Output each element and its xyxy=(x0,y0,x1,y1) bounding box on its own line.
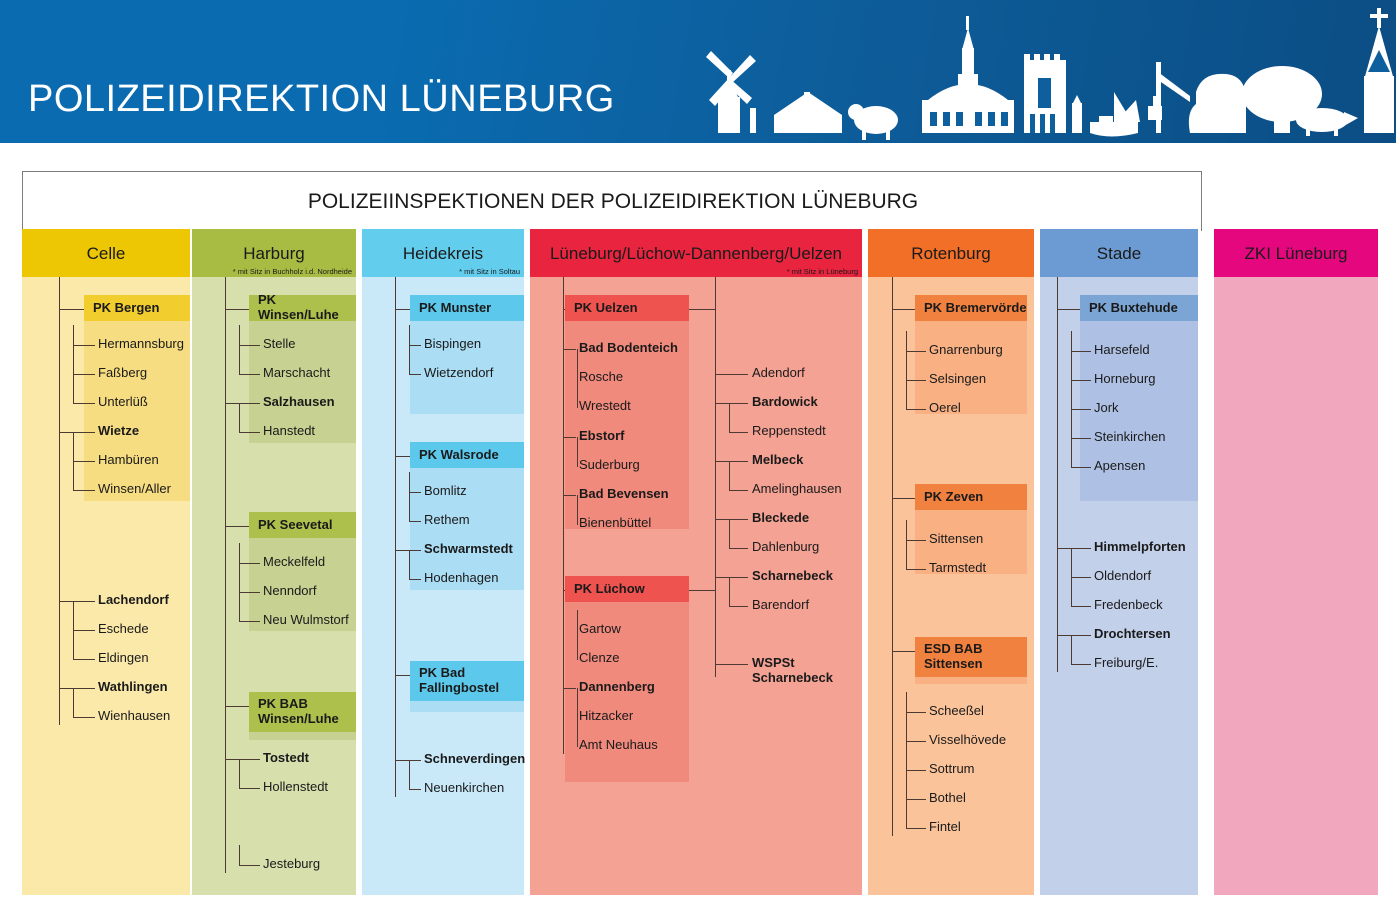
station-node[interactable]: Salzhausen xyxy=(263,395,335,410)
sub-node[interactable]: Hodenhagen xyxy=(424,571,498,586)
station-node[interactable]: Himmelpforten xyxy=(1094,540,1186,555)
node-connector xyxy=(906,741,926,742)
pk-connector xyxy=(563,590,565,591)
station-node[interactable]: Bad Bodenteich xyxy=(579,341,678,356)
node-tick xyxy=(892,828,893,829)
node-branch xyxy=(577,495,578,525)
sub-node[interactable]: Wrestedt xyxy=(579,399,631,414)
node-tick xyxy=(225,865,226,866)
subtitle-text: POLIZEIINSPEKTIONEN DER POLIZEIDIREKTION… xyxy=(23,172,1203,232)
node-tick xyxy=(395,374,396,375)
node-connector xyxy=(59,601,95,602)
node-connector xyxy=(1057,548,1091,549)
node-connector xyxy=(225,403,260,404)
node-tick xyxy=(59,374,60,375)
node-branch xyxy=(73,345,74,375)
node-connector xyxy=(239,592,260,593)
node-branch xyxy=(906,712,907,742)
node-branch xyxy=(1071,548,1072,578)
pk-node[interactable]: PK Seevetal xyxy=(249,512,356,538)
node-connector xyxy=(395,550,421,551)
node-tick xyxy=(395,492,396,493)
page-title: POLIZEIDIREKTION LÜNEBURG xyxy=(28,78,615,121)
node-tick xyxy=(1057,380,1058,381)
page-header: POLIZEIDIREKTION LÜNEBURG xyxy=(0,0,1396,143)
pk-connector xyxy=(892,498,915,499)
node-connector xyxy=(906,712,926,713)
pk-node[interactable]: PK Walsrode xyxy=(410,442,524,468)
station-node[interactable]: Dannenberg xyxy=(579,680,655,695)
node-branch xyxy=(73,688,74,718)
node-branch xyxy=(239,845,240,866)
node-connector xyxy=(729,490,748,491)
node-branch xyxy=(1071,577,1072,607)
node-tick xyxy=(225,374,226,375)
pk-node[interactable]: PK Winsen/Luhe xyxy=(249,295,356,321)
node-connector xyxy=(729,548,748,549)
station-node[interactable]: WSPSt Scharnebeck xyxy=(752,656,844,686)
station-node[interactable]: Drochtersen xyxy=(1094,627,1171,642)
farmhouse-icon xyxy=(774,92,842,133)
node-connector xyxy=(563,437,576,438)
node-connector xyxy=(409,521,421,522)
sub-node[interactable]: Winsen/Aller xyxy=(98,482,171,497)
station-node[interactable]: Bardowick xyxy=(752,395,818,410)
node-branch xyxy=(409,550,410,580)
node-connector xyxy=(73,490,95,491)
node-connector xyxy=(715,461,748,462)
node-connector xyxy=(59,432,95,433)
elephant-icon xyxy=(1189,74,1246,133)
sub-node[interactable]: Stelle xyxy=(263,337,296,352)
sub-node[interactable]: Bienenbüttel xyxy=(579,516,651,531)
cross-connector-luechow xyxy=(689,590,715,591)
pk-connector xyxy=(892,651,915,652)
column-header-label: Heidekreis xyxy=(403,245,483,262)
node-tick xyxy=(225,345,226,346)
node-branch xyxy=(239,563,240,593)
pig-icon xyxy=(1296,108,1358,136)
pk-node[interactable]: PK Lüchow xyxy=(565,576,689,602)
node-branch xyxy=(577,688,578,718)
sub-node[interactable]: Harsefeld xyxy=(1094,343,1150,358)
column-header-rotenburg[interactable]: Rotenburg xyxy=(868,229,1034,277)
pk-connector xyxy=(395,456,410,457)
sub-node[interactable]: Neu Wulmstorf xyxy=(263,613,349,628)
node-branch xyxy=(409,760,410,790)
station-node[interactable]: Lachendorf xyxy=(98,593,169,608)
column-body-zki xyxy=(1214,277,1378,895)
sub-node[interactable]: Steinkirchen xyxy=(1094,430,1166,445)
column-header-note: * mit Sitz in Soltau xyxy=(459,267,520,276)
node-connector xyxy=(239,788,260,789)
node-connector xyxy=(239,374,260,375)
node-branch xyxy=(729,519,730,549)
node-connector xyxy=(715,403,748,404)
node-connector xyxy=(73,403,95,404)
node-branch xyxy=(729,461,730,491)
column-header-label: Lüneburg/Lüchow-Dannenberg/Uelzen xyxy=(550,245,842,262)
sub-node[interactable]: Nenndorf xyxy=(263,584,316,599)
node-branch xyxy=(577,378,578,408)
node-connector xyxy=(73,345,95,346)
column-heidekreis: Heidekreis* mit Sitz in SoltauPK Munster… xyxy=(362,229,524,895)
sailboat-icon xyxy=(1090,92,1140,137)
column-body-harburg: PK Winsen/LuheStelleMarschachtSalzhausen… xyxy=(192,277,356,895)
node-connector xyxy=(715,374,748,375)
sub-node[interactable]: Scheeßel xyxy=(929,704,984,719)
sub-node[interactable]: Meckelfeld xyxy=(263,555,325,570)
node-connector xyxy=(73,374,95,375)
node-tick xyxy=(225,563,226,564)
node-branch xyxy=(73,432,74,462)
sub-node[interactable]: Gartow xyxy=(579,622,621,637)
trunk-line xyxy=(225,277,226,873)
trunk-line xyxy=(892,277,893,836)
node-branch xyxy=(409,345,410,375)
sub-node[interactable]: Eschede xyxy=(98,622,149,637)
node-tick xyxy=(892,799,893,800)
node-branch xyxy=(239,345,240,375)
node-branch xyxy=(1071,635,1072,665)
node-connector xyxy=(1071,467,1091,468)
node-connector xyxy=(715,577,748,578)
column-body-celle: PK BergenHermannsburgFaßbergUnterlüßWiet… xyxy=(22,277,190,895)
station-node[interactable]: Schneverdingen xyxy=(424,752,525,767)
pk-connector xyxy=(1057,309,1080,310)
node-branch xyxy=(239,325,240,346)
station-node[interactable]: Scharnebeck xyxy=(752,569,833,584)
node-branch xyxy=(906,331,907,352)
column-header-zki[interactable]: ZKI Lüneburg xyxy=(1214,229,1378,277)
pk-connector xyxy=(395,675,410,676)
node-connector xyxy=(409,789,421,790)
node-connector xyxy=(1071,606,1091,607)
pk-connector xyxy=(892,309,915,310)
node-connector xyxy=(409,492,421,493)
sub-node[interactable]: Oerel xyxy=(929,401,961,416)
node-branch xyxy=(73,630,74,660)
trunk-line xyxy=(1057,277,1058,672)
station-node[interactable]: Ebstorf xyxy=(579,429,625,444)
node-tick xyxy=(225,592,226,593)
station-node[interactable]: Wietze xyxy=(98,424,139,439)
sub-node[interactable]: Oldendorf xyxy=(1094,569,1151,584)
station-node[interactable]: Bad Bevensen xyxy=(579,487,669,502)
pk-connector xyxy=(59,309,84,310)
node-connector xyxy=(1071,664,1091,665)
column-header-label: Celle xyxy=(87,245,126,262)
node-branch xyxy=(1071,380,1072,410)
column-header-lueneburg[interactable]: Lüneburg/Lüchow-Dannenberg/Uelzen* mit S… xyxy=(530,229,862,277)
sub-node[interactable]: Tarmstedt xyxy=(929,561,986,576)
node-connector xyxy=(409,345,421,346)
node-branch xyxy=(729,403,730,433)
subtitle-box: POLIZEIINSPEKTIONEN DER POLIZEIDIREKTION… xyxy=(22,171,1202,231)
pk-node[interactable]: PK Bad Fallingbostel xyxy=(410,661,524,701)
node-branch xyxy=(577,610,578,631)
node-connector xyxy=(563,495,576,496)
node-branch xyxy=(239,403,240,433)
sub-node[interactable]: Adendorf xyxy=(752,366,805,381)
node-tick xyxy=(225,621,226,622)
cross-connector-uelzen xyxy=(689,309,715,310)
node-tick xyxy=(1057,467,1058,468)
node-connector xyxy=(239,563,260,564)
node-connector xyxy=(906,540,926,541)
sub-node[interactable]: Marschacht xyxy=(263,366,330,381)
church-icon xyxy=(922,16,1014,133)
pk-node[interactable]: PK Uelzen xyxy=(565,295,689,321)
pk-connector xyxy=(225,706,249,707)
station-node[interactable]: Bleckede xyxy=(752,511,809,526)
right-trunk-line xyxy=(715,277,716,677)
org-chart: CellePK BergenHermannsburgFaßbergUnterlü… xyxy=(0,229,1396,895)
node-connector xyxy=(73,659,95,660)
trunk-line xyxy=(395,277,396,797)
node-tick xyxy=(892,741,893,742)
node-tick xyxy=(1057,351,1058,352)
node-branch xyxy=(577,630,578,660)
column-body-heidekreis: PK MunsterBispingenWietzendorfPK Walsrod… xyxy=(362,277,524,895)
node-tick xyxy=(892,770,893,771)
node-connector xyxy=(906,828,926,829)
node-branch xyxy=(239,543,240,564)
node-connector xyxy=(1071,409,1091,410)
node-branch xyxy=(239,759,240,789)
node-connector xyxy=(906,351,926,352)
node-connector xyxy=(1057,635,1091,636)
column-header-celle[interactable]: Celle xyxy=(22,229,190,277)
sub-node[interactable]: Jesteburg xyxy=(263,857,320,872)
sub-node[interactable]: Bothel xyxy=(929,791,966,806)
node-branch xyxy=(1071,351,1072,381)
sub-node[interactable]: Eldingen xyxy=(98,651,149,666)
node-branch xyxy=(906,692,907,713)
sub-node[interactable]: Hitzacker xyxy=(579,709,633,724)
node-tick xyxy=(892,712,893,713)
node-branch xyxy=(73,461,74,491)
node-connector xyxy=(1071,438,1091,439)
column-header-label: Stade xyxy=(1097,245,1141,262)
node-connector xyxy=(715,664,748,665)
pk-node[interactable]: PK Bergen xyxy=(84,295,190,321)
node-branch xyxy=(729,577,730,607)
column-header-label: Harburg xyxy=(243,245,304,262)
sub-node[interactable]: Selsingen xyxy=(929,372,986,387)
node-connector xyxy=(395,760,421,761)
node-branch xyxy=(73,601,74,631)
column-rotenburg: RotenburgPK BremervördeGnarrenburgSelsin… xyxy=(868,229,1034,895)
node-branch xyxy=(577,437,578,467)
node-branch xyxy=(1071,438,1072,468)
node-connector xyxy=(73,717,95,718)
column-body-rotenburg: PK BremervördeGnarrenburgSelsingenOerelP… xyxy=(868,277,1034,895)
node-connector xyxy=(409,579,421,580)
sub-node[interactable]: Amelinghausen xyxy=(752,482,842,497)
pk-node[interactable]: PK Buxtehude xyxy=(1080,295,1198,321)
skyline-graphic xyxy=(690,0,1396,143)
node-branch xyxy=(906,520,907,541)
sub-node[interactable]: Jork xyxy=(1094,401,1119,416)
node-connector xyxy=(563,349,576,350)
node-connector xyxy=(729,606,748,607)
node-connector xyxy=(906,569,926,570)
station-node[interactable]: Melbeck xyxy=(752,453,803,468)
spire-church-icon xyxy=(1364,8,1394,133)
node-connector xyxy=(906,409,926,410)
station-node[interactable]: Tostedt xyxy=(263,751,309,766)
column-celle: CellePK BergenHermannsburgFaßbergUnterlü… xyxy=(22,229,190,895)
node-tick xyxy=(59,403,60,404)
pk-node[interactable]: PK Zeven xyxy=(915,484,1027,510)
node-branch xyxy=(73,374,74,404)
node-tick xyxy=(395,345,396,346)
node-branch xyxy=(906,540,907,570)
column-header-stade[interactable]: Stade xyxy=(1040,229,1198,277)
column-zki: ZKI Lüneburg xyxy=(1214,229,1378,895)
node-tick xyxy=(892,569,893,570)
node-branch xyxy=(906,741,907,771)
node-branch xyxy=(239,592,240,622)
node-tick xyxy=(1057,438,1058,439)
pk-node[interactable]: ESD BAB Sittensen xyxy=(915,637,1027,677)
node-connector xyxy=(1071,380,1091,381)
sub-node[interactable]: Gnarrenburg xyxy=(929,343,1003,358)
sub-node[interactable]: Hermannsburg xyxy=(98,337,184,352)
column-header-note: * mit Sitz in Lüneburg xyxy=(787,267,858,276)
crane-icon xyxy=(1148,62,1190,133)
node-branch xyxy=(1071,409,1072,439)
column-body-lueneburg: PK UelzenBad BodenteichRoscheWrestedtEbs… xyxy=(530,277,862,895)
sub-node[interactable]: Reppenstedt xyxy=(752,424,826,439)
sub-node[interactable]: Rethem xyxy=(424,513,470,528)
pk-connector xyxy=(225,309,249,310)
node-connector xyxy=(1071,351,1091,352)
sub-node[interactable]: Freiburg/E. xyxy=(1094,656,1158,671)
node-branch xyxy=(906,799,907,829)
node-connector xyxy=(59,688,95,689)
pk-connector xyxy=(395,309,410,310)
sub-node[interactable]: Faßberg xyxy=(98,366,147,381)
sub-node[interactable]: Horneburg xyxy=(1094,372,1155,387)
node-tick xyxy=(563,630,564,631)
sub-node[interactable]: Neuenkirchen xyxy=(424,781,504,796)
sub-node[interactable]: Fredenbeck xyxy=(1094,598,1163,613)
sub-node[interactable]: Wietzendorf xyxy=(424,366,493,381)
node-branch xyxy=(409,492,410,522)
node-tick xyxy=(1057,409,1058,410)
tower-icon xyxy=(1024,54,1082,133)
node-tick xyxy=(892,351,893,352)
node-tick xyxy=(395,521,396,522)
sub-node[interactable]: Rosche xyxy=(579,370,623,385)
windmill-icon xyxy=(706,51,756,133)
sub-node[interactable]: Visselhövede xyxy=(929,733,1006,748)
node-branch xyxy=(577,717,578,747)
pk-connector xyxy=(563,309,565,310)
sub-node[interactable]: Barendorf xyxy=(752,598,809,613)
sub-node[interactable]: Hambüren xyxy=(98,453,159,468)
sub-node[interactable]: Apensen xyxy=(1094,459,1145,474)
node-branch xyxy=(906,770,907,800)
station-node[interactable]: Schwarmstedt xyxy=(424,542,513,557)
column-lueneburg: Lüneburg/Lüchow-Dannenberg/Uelzen* mit S… xyxy=(530,229,862,895)
node-tick xyxy=(892,409,893,410)
node-connector xyxy=(73,630,95,631)
column-stade: StadePK BuxtehudeHarsefeldHorneburgJorkS… xyxy=(1040,229,1198,895)
sub-node[interactable]: Clenze xyxy=(579,651,619,666)
node-branch xyxy=(409,472,410,493)
node-branch xyxy=(1071,331,1072,352)
node-connector xyxy=(906,770,926,771)
node-connector xyxy=(729,432,748,433)
sub-node[interactable]: Amt Neuhaus xyxy=(579,738,658,753)
column-header-note: * mit Sitz in Buchholz i.d. Nordheide xyxy=(233,267,352,276)
node-branch xyxy=(409,325,410,346)
pk-node[interactable]: PK Bremervörde xyxy=(915,295,1027,321)
sub-node[interactable]: Suderburg xyxy=(579,458,640,473)
node-connector xyxy=(239,345,260,346)
pk-node[interactable]: PK Munster xyxy=(410,295,524,321)
station-node[interactable]: Wathlingen xyxy=(98,680,168,695)
node-tick xyxy=(563,659,564,660)
pk-connector xyxy=(225,526,249,527)
node-branch xyxy=(73,325,74,346)
node-connector xyxy=(73,461,95,462)
node-tick xyxy=(892,380,893,381)
node-branch xyxy=(906,351,907,381)
sub-node[interactable]: Wienhausen xyxy=(98,709,170,724)
column-harburg: Harburg* mit Sitz in Buchholz i.d. Nordh… xyxy=(192,229,356,895)
node-connector xyxy=(239,865,260,866)
sub-node[interactable]: Sittensen xyxy=(929,532,983,547)
node-connector xyxy=(239,432,260,433)
sub-node[interactable]: Bomlitz xyxy=(424,484,467,499)
node-connector xyxy=(1071,577,1091,578)
sub-node[interactable]: Dahlenburg xyxy=(752,540,819,555)
column-header-label: ZKI Lüneburg xyxy=(1244,245,1347,262)
column-header-heidekreis[interactable]: Heidekreis* mit Sitz in Soltau xyxy=(362,229,524,277)
sheep-icon xyxy=(848,104,898,140)
node-branch xyxy=(906,380,907,410)
node-connector xyxy=(906,380,926,381)
node-connector xyxy=(715,519,748,520)
column-header-harburg[interactable]: Harburg* mit Sitz in Buchholz i.d. Nordh… xyxy=(192,229,356,277)
sub-node[interactable]: Fintel xyxy=(929,820,961,835)
pk-node[interactable]: PK BAB Winsen/Luhe xyxy=(249,692,356,732)
node-tick xyxy=(892,540,893,541)
sub-node[interactable]: Hanstedt xyxy=(263,424,315,439)
node-connector xyxy=(409,374,421,375)
column-body-stade: PK BuxtehudeHarsefeldHorneburgJorkSteink… xyxy=(1040,277,1198,895)
column-header-label: Rotenburg xyxy=(911,245,990,262)
sub-node[interactable]: Bispingen xyxy=(424,337,481,352)
sub-node[interactable]: Unterlüß xyxy=(98,395,148,410)
node-branch xyxy=(577,349,578,379)
node-connector xyxy=(906,799,926,800)
node-tick xyxy=(59,345,60,346)
sub-node[interactable]: Sottrum xyxy=(929,762,975,777)
node-connector xyxy=(225,759,260,760)
node-connector xyxy=(563,688,576,689)
sub-node[interactable]: Hollenstedt xyxy=(263,780,328,795)
node-connector xyxy=(239,621,260,622)
